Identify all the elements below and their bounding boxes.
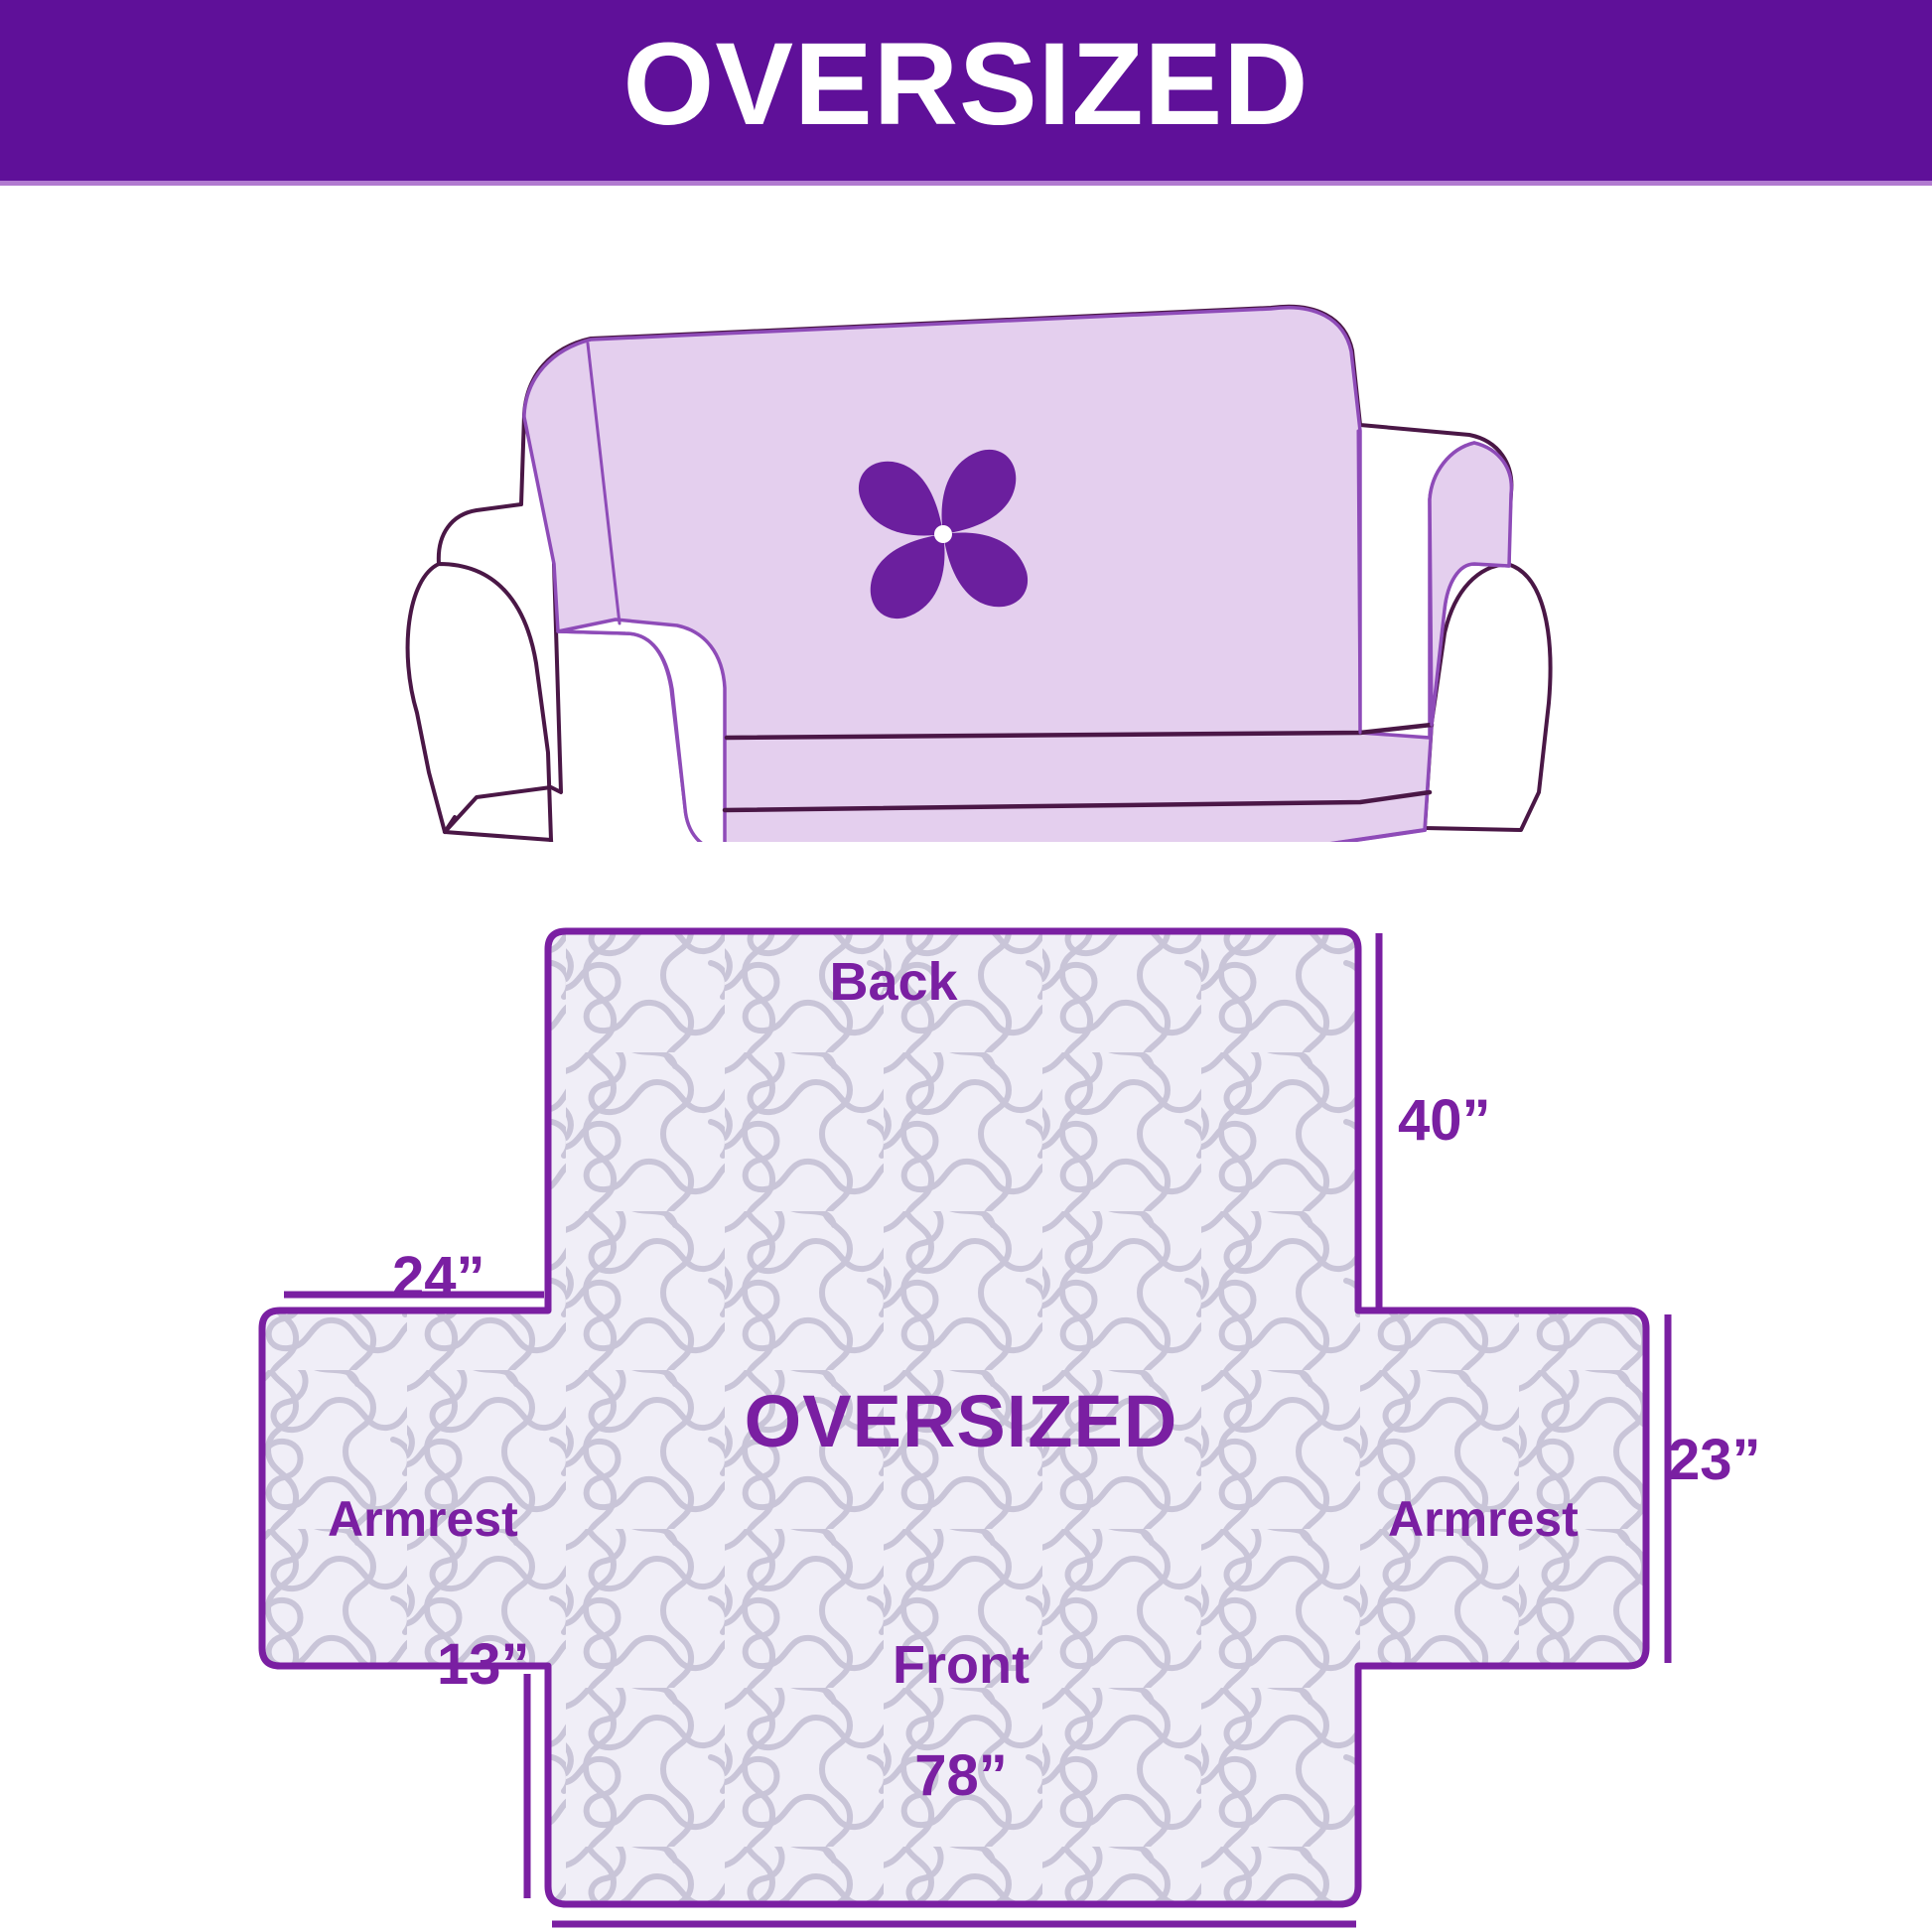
banner-underline: [0, 181, 1932, 186]
panel-label-back: Back: [829, 955, 957, 1009]
header-banner: OVERSIZED: [0, 0, 1932, 181]
panel-label-armrest-right: Armrest: [1388, 1494, 1579, 1544]
dimension-label-front-skirt: 13”: [437, 1636, 530, 1694]
dimension-label-front-width: 78”: [914, 1747, 1008, 1805]
panel-label-center: OVERSIZED: [745, 1385, 1178, 1458]
sofa-illustration: [377, 236, 1569, 842]
panel-label-armrest-left: Armrest: [328, 1494, 518, 1544]
slipcover-left-flap: [558, 620, 725, 842]
panel-label-front: Front: [893, 1638, 1030, 1692]
sofa-leg-left: [551, 840, 705, 842]
dimension-label-back-shoulder: 24”: [392, 1249, 485, 1307]
page-title: OVERSIZED: [623, 26, 1310, 143]
slipcover-seam-right: [1358, 431, 1360, 733]
dimension-label-armrest-height: 23”: [1668, 1432, 1761, 1489]
dimension-label-back-height: 40”: [1398, 1092, 1491, 1150]
product-size-chart: OVERSIZED: [0, 0, 1932, 1932]
